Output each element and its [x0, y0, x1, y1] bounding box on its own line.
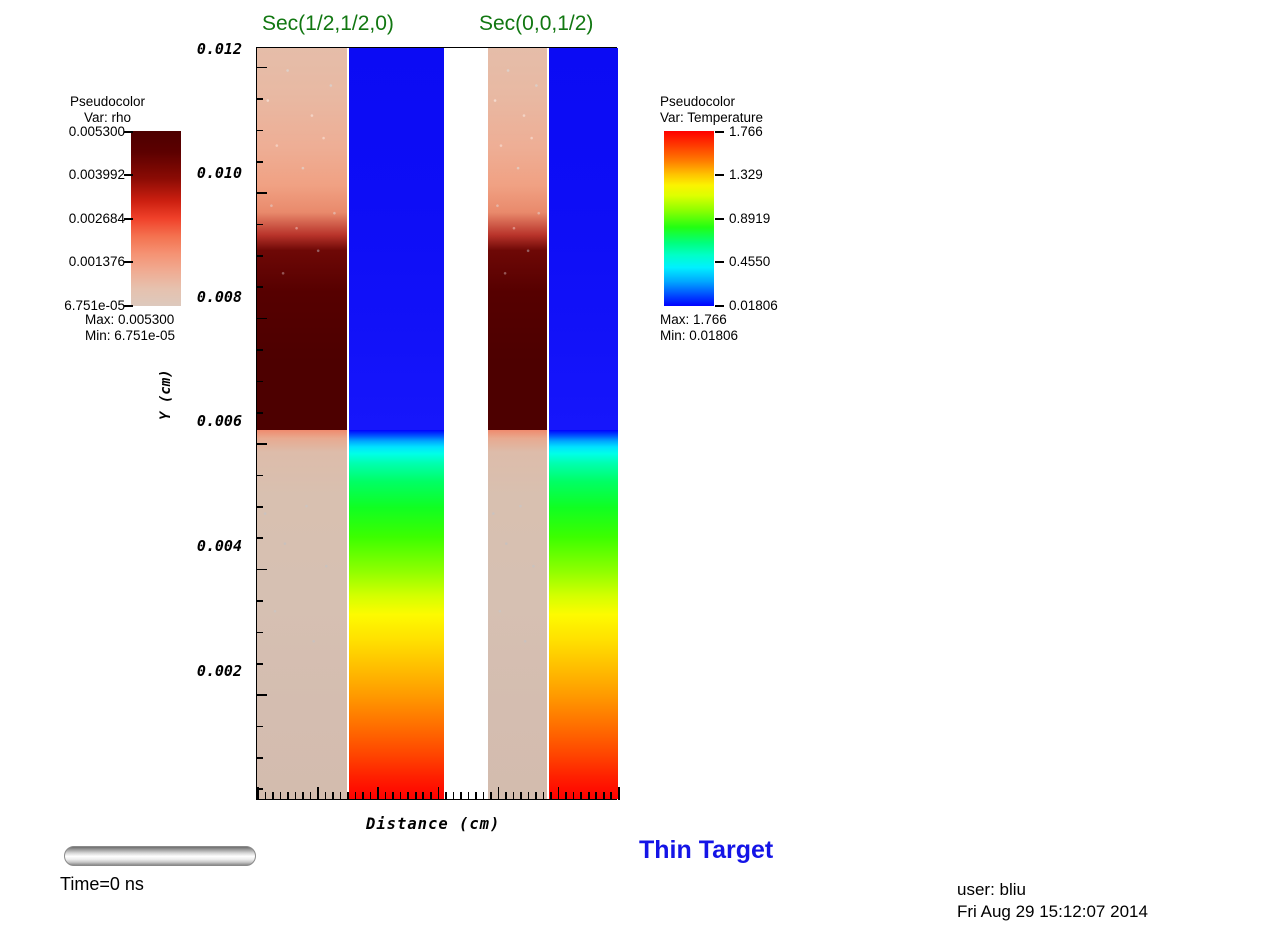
- colorbar-rho-tick-dash-1: [124, 174, 133, 176]
- colorbar-temp-tick-0: 1.766: [729, 124, 763, 139]
- panel-sec1-temperature[interactable]: [349, 48, 444, 799]
- x-tick-minor: [603, 792, 605, 800]
- legend-rho-variable: Var: rho: [55, 110, 160, 126]
- y-tick-minor: [256, 381, 263, 383]
- x-tick-minor: [325, 792, 327, 800]
- panel-sec2-temperature-field: [549, 48, 618, 799]
- x-tick-minor: [610, 792, 612, 800]
- x-tick-minor: [453, 792, 455, 800]
- legend-rho-minmax: Max: 0.005300 Min: 6.751e-05: [85, 312, 175, 344]
- colorbar-temp-tick-dash-2: [715, 218, 724, 220]
- colorbar-rho-tick-dash-3: [124, 261, 133, 263]
- x-tick-minor: [595, 792, 597, 800]
- mesh-speckle: [257, 48, 347, 799]
- y-tick-label-0.002: 0.002: [176, 662, 242, 680]
- x-tick-minor: [430, 792, 432, 800]
- colorbar-rho-tick-0: 0.005300: [51, 124, 125, 139]
- legend-temperature-max: Max: 1.766: [660, 312, 738, 328]
- x-tick-minor: [302, 792, 304, 800]
- colorbar-temp-tick-dash-1: [715, 174, 724, 176]
- x-tick-minor: [332, 792, 334, 800]
- panel-sec1-rho-field: [257, 48, 347, 799]
- database-title: Thin Target: [639, 836, 773, 865]
- panel-sec2-rho-field: [488, 48, 547, 799]
- x-tick-minor: [370, 792, 372, 800]
- y-tick-minor: [256, 130, 263, 132]
- x-tick-minor: [445, 792, 447, 800]
- legend-temperature-variable: Var: Temperature: [660, 110, 763, 126]
- x-tick-major: [377, 787, 379, 800]
- colorbar-rho-tick-dash-4: [124, 305, 133, 307]
- x-tick-minor: [385, 792, 387, 800]
- x-tick-minor: [513, 792, 515, 800]
- x-tick-minor: [543, 792, 545, 800]
- y-tick-minor: [256, 537, 263, 539]
- legend-rho[interactable]: Pseudocolor Var: rho: [55, 94, 160, 125]
- colorbar-temp-tick-2: 0.8919: [729, 211, 770, 226]
- legend-temperature-min: Min: 0.01806: [660, 328, 738, 344]
- mesh-speckle: [488, 48, 547, 799]
- temperature-cold-slab: [549, 48, 618, 430]
- y-tick-minor: [256, 663, 263, 665]
- temperature-hot-region: [549, 430, 618, 799]
- x-tick-minor: [550, 792, 552, 800]
- panel-sec2-rho[interactable]: [488, 48, 547, 799]
- colorbar-temp-tick-dash-3: [715, 261, 724, 263]
- legend-rho-max: Max: 0.005300: [85, 312, 175, 328]
- y-tick-label-0.006: 0.006: [176, 412, 242, 430]
- x-tick-minor: [340, 792, 342, 800]
- colorbar-temp-tick-3: 0.4550: [729, 254, 770, 269]
- x-tick-major: [558, 787, 560, 800]
- y-tick-minor: [256, 286, 263, 288]
- y-axis-title: Y (cm): [158, 369, 174, 420]
- x-tick-minor: [573, 792, 575, 800]
- legend-rho-min: Min: 6.751e-05: [85, 328, 175, 344]
- x-tick-minor: [483, 792, 485, 800]
- colorbar-rho-tick-dash-2: [124, 218, 133, 220]
- plot-area[interactable]: [256, 47, 617, 800]
- x-tick-minor: [460, 792, 462, 800]
- colorbar-temp-tick-4: 0.01806: [729, 298, 778, 313]
- y-tick-major: [256, 318, 267, 320]
- y-tick-major: [256, 694, 267, 696]
- y-tick-major: [256, 443, 267, 445]
- x-tick-minor: [310, 792, 312, 800]
- x-tick-minor: [407, 792, 409, 800]
- legend-temperature[interactable]: Pseudocolor Var: Temperature: [660, 94, 763, 125]
- legend-rho-header: Pseudocolor: [55, 94, 160, 110]
- x-tick-minor: [265, 792, 267, 800]
- y-tick-minor: [256, 726, 263, 728]
- y-tick-minor: [256, 506, 263, 508]
- colorbar-rho-tick-4: 6.751e-05: [48, 298, 125, 313]
- y-tick-major: [256, 192, 267, 194]
- y-tick-label-0.004: 0.004: [176, 537, 242, 555]
- y-tick-minor: [256, 98, 263, 100]
- y-tick-label-0.012: 0.012: [176, 40, 242, 58]
- x-tick-minor: [272, 792, 274, 800]
- colorbar-temperature[interactable]: [664, 131, 714, 306]
- x-tick-major: [257, 787, 259, 800]
- y-tick-minor: [256, 475, 263, 477]
- y-tick-minor: [256, 161, 263, 163]
- x-tick-minor: [475, 792, 477, 800]
- panel-sec1-rho[interactable]: [257, 48, 347, 799]
- render-datetime: Fri Aug 29 15:12:07 2014: [957, 901, 1148, 923]
- plot-title-sec1: Sec(1/2,1/2,0): [262, 12, 394, 36]
- user-info: user: bliu Fri Aug 29 15:12:07 2014: [957, 879, 1148, 923]
- time-label: Time=0 ns: [60, 874, 144, 895]
- x-tick-minor: [400, 792, 402, 800]
- y-tick-minor: [256, 600, 263, 602]
- x-tick-minor: [422, 792, 424, 800]
- colorbar-rho[interactable]: [131, 131, 181, 306]
- colorbar-rho-tick-1: 0.003992: [51, 167, 125, 182]
- x-tick-minor: [580, 792, 582, 800]
- y-tick-label-0.008: 0.008: [176, 288, 242, 306]
- x-tick-minor: [520, 792, 522, 800]
- x-tick-major: [317, 787, 319, 800]
- x-tick-major: [438, 787, 440, 800]
- temperature-hot-region: [349, 430, 444, 799]
- x-tick-minor: [565, 792, 567, 800]
- x-tick-major: [498, 787, 500, 800]
- colorbar-rho-tick-3: 0.001376: [51, 254, 125, 269]
- colorbar-temp-tick-1: 1.329: [729, 167, 763, 182]
- x-tick-minor: [468, 792, 470, 800]
- x-tick-minor: [490, 792, 492, 800]
- colorbar-temp-tick-dash-0: [715, 131, 724, 133]
- legend-temperature-minmax: Max: 1.766 Min: 0.01806: [660, 312, 738, 344]
- x-tick-minor: [287, 792, 289, 800]
- colorbar-temp-tick-dash-4: [715, 305, 724, 307]
- y-tick-major: [256, 569, 267, 571]
- y-tick-label-0.010: 0.010: [176, 164, 242, 182]
- x-tick-minor: [347, 792, 349, 800]
- x-tick-minor: [280, 792, 282, 800]
- y-tick-minor: [256, 632, 263, 634]
- time-slider[interactable]: [64, 846, 256, 866]
- colorbar-rho-tick-2: 0.002684: [51, 211, 125, 226]
- panel-sec2-temperature[interactable]: [549, 48, 618, 799]
- x-tick-minor: [392, 792, 394, 800]
- y-tick-minor: [256, 757, 263, 759]
- x-tick-minor: [415, 792, 417, 800]
- legend-temperature-header: Pseudocolor: [660, 94, 763, 110]
- x-tick-minor: [528, 792, 530, 800]
- x-axis-title: Distance (cm): [366, 815, 500, 833]
- y-tick-minor: [256, 412, 263, 414]
- x-tick-minor: [588, 792, 590, 800]
- plot-title-sec2: Sec(0,0,1/2): [479, 12, 593, 36]
- y-tick-minor: [256, 349, 263, 351]
- user-name: user: bliu: [957, 879, 1148, 901]
- x-tick-minor: [535, 792, 537, 800]
- colorbar-rho-tick-dash-0: [124, 131, 133, 133]
- y-tick-major: [256, 67, 267, 69]
- y-tick-minor: [256, 224, 263, 226]
- x-tick-minor: [362, 792, 364, 800]
- temperature-cold-slab: [349, 48, 444, 430]
- x-tick-minor: [295, 792, 297, 800]
- x-tick-major: [618, 787, 620, 800]
- panel-sec1-temperature-field: [349, 48, 444, 799]
- x-tick-minor: [505, 792, 507, 800]
- y-tick-minor: [256, 255, 263, 257]
- x-tick-minor: [355, 792, 357, 800]
